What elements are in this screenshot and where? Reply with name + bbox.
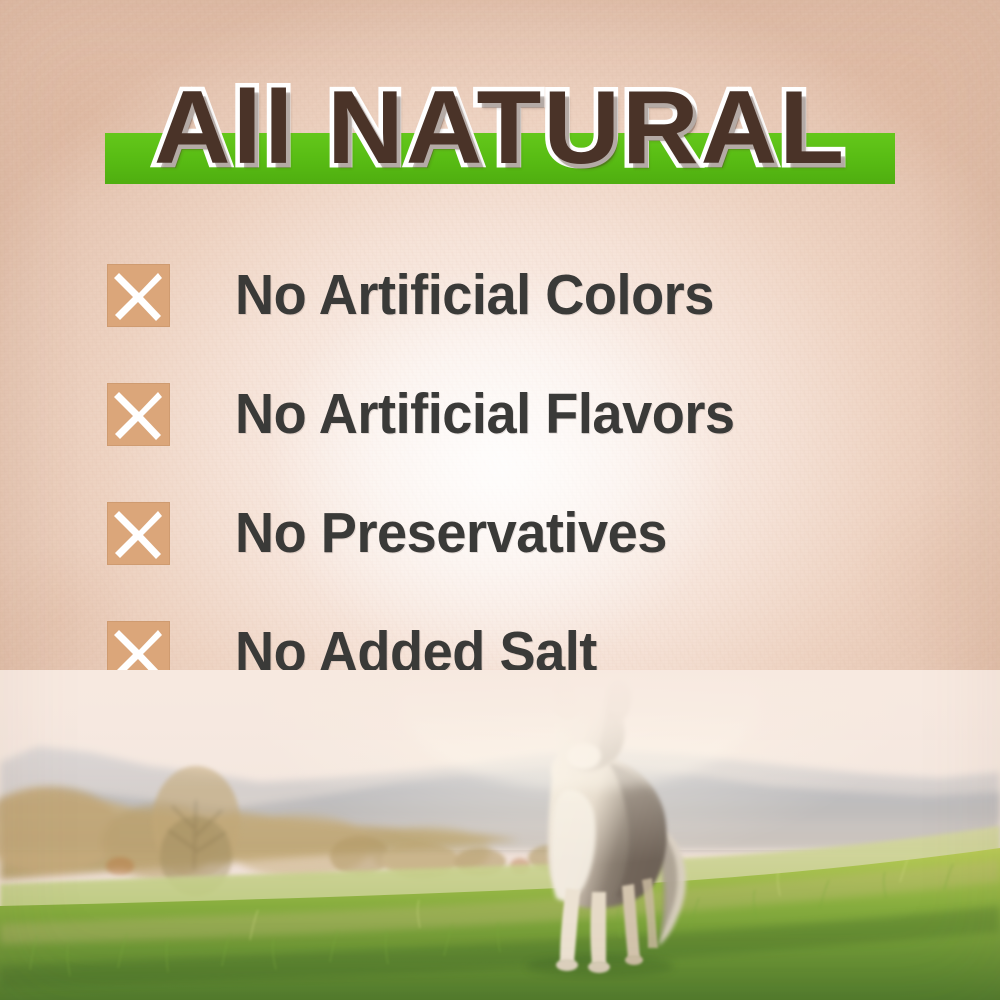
feature-list: No Artificial Colors No Artificial Flavo… [107,256,927,732]
x-mark-icon [107,502,170,565]
product-feature-panel: All NATURAL No Artificial Colors No Arti… [0,0,1000,1000]
x-mark-icon [107,264,170,327]
dog-landscape-photo [0,670,1000,1000]
feature-label: No Preservatives [235,490,667,576]
headline-title: All NATURAL [0,74,1000,182]
feature-label: No Artificial Colors [235,252,714,338]
x-mark-icon [107,383,170,446]
headline-block: All NATURAL [0,74,1000,192]
feature-row-no-artificial-colors: No Artificial Colors [107,256,927,375]
feature-row-no-artificial-flavors: No Artificial Flavors [107,375,927,494]
feature-row-no-preservatives: No Preservatives [107,494,927,613]
feature-label: No Artificial Flavors [235,371,735,457]
